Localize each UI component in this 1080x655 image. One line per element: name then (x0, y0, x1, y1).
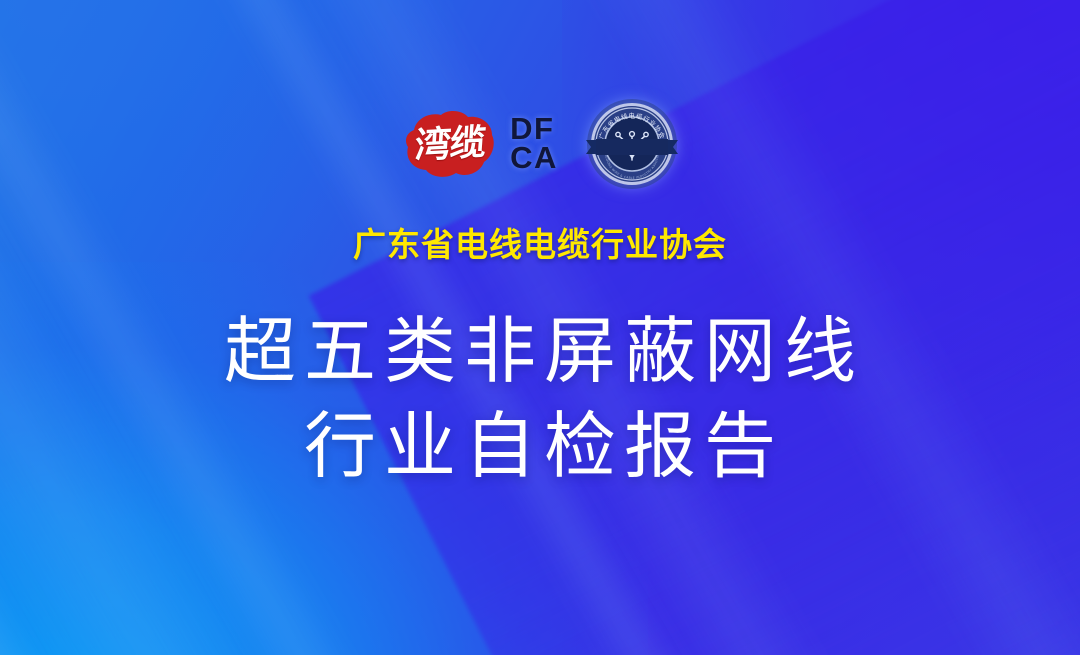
report-title: 超五类非屏蔽网线 行业自检报告 (216, 315, 864, 484)
poster-content: 湾缆 DF CA (0, 0, 1080, 655)
dfca-line-2: CA (510, 144, 558, 173)
report-title-line-1: 超五类非屏蔽网线 (216, 315, 864, 388)
logo-row: 湾缆 DF CA (400, 96, 680, 192)
brand-logo-dfca: 湾缆 DF CA (400, 108, 558, 180)
seal-text: 湾缆 (397, 105, 503, 182)
red-seal-icon: 湾缆 (400, 108, 500, 180)
poster-root: 湾缆 DF CA (0, 0, 1080, 655)
dfca-abbreviation: DF CA (510, 115, 558, 172)
association-emblem-icon: 广东省电线电缆行业协会 GUANGDONG WIRE & CABLE INDUS… (584, 96, 680, 192)
report-title-line-2: 行业自检报告 (296, 410, 784, 483)
association-name: 广东省电线电缆行业协会 (353, 228, 727, 261)
